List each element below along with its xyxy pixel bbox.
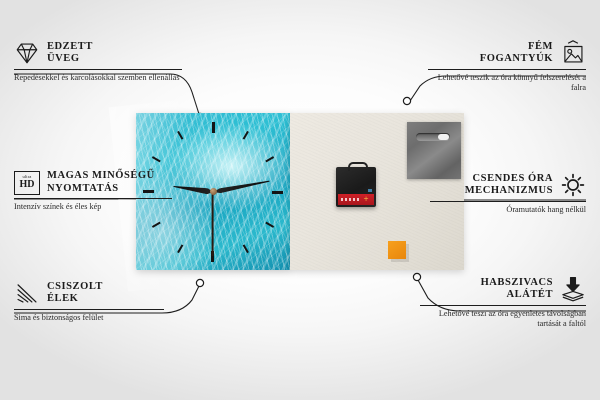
callout-description: Sima és biztonságos felület [14, 313, 164, 323]
callout-description: Repedésekkel és karcolásokkal szemben el… [14, 73, 182, 83]
clock-second-hand [212, 192, 214, 256]
clock-center-cap [210, 188, 217, 195]
callout-header: CSENDES ÓRA MECHANIZMUS [430, 172, 586, 198]
wire-node-metal-handles [403, 97, 410, 104]
metal-hanger [407, 122, 461, 179]
hd-label: HD [20, 180, 35, 190]
gear-icon [560, 172, 586, 198]
quartz-mechanism: + [336, 167, 376, 207]
callout-rule [14, 69, 182, 70]
callout-title: CSISZOLT ÉLEK [47, 281, 103, 306]
callout-header: FÉM FOGANTYÚK [428, 40, 586, 66]
callout-title: CSENDES ÓRA MECHANIZMUS [465, 173, 553, 198]
callout-rule [420, 305, 586, 306]
callout-rule [428, 69, 586, 70]
callout-foam-backing[interactable]: HABSZIVACS ALÁTÉT Lehetővé teszi az óra … [420, 276, 586, 329]
callout-description: Lehetővé teszik az óra könnyű felszerelé… [428, 73, 586, 93]
callout-description: Óramutatók hang nélkül [430, 205, 586, 215]
battery-label: + [338, 194, 374, 205]
callout-rule [430, 201, 586, 202]
callout-description: Intenzív színek és éles kép [14, 202, 172, 212]
polished-edges-icon [14, 280, 40, 306]
callout-description: Lehetővé teszi az óra egyenletes távolsá… [420, 309, 586, 329]
callout-high-quality-print[interactable]: ultra HD MAGAS MINŐSÉGŰ NYOMTATÁS Intenz… [14, 170, 172, 212]
hanger-slot [416, 133, 450, 141]
infographic-canvas: + EDZETT ÜVEG Repedésekkel és karcolások… [0, 0, 600, 400]
callout-tempered-glass[interactable]: EDZETT ÜVEG Repedésekkel és karcolásokka… [14, 40, 182, 83]
callout-title: MAGAS MINŐSÉGŰ NYOMTATÁS [47, 170, 155, 195]
diamond-icon [14, 40, 40, 66]
picture-hanger-icon [560, 40, 586, 66]
callout-title: EDZETT ÜVEG [47, 41, 93, 66]
battery-plus-icon: + [362, 195, 370, 203]
clock-tick [212, 122, 214, 192]
callout-header: EDZETT ÜVEG [14, 40, 182, 66]
callout-rule [14, 309, 164, 310]
callout-metal-handles[interactable]: FÉM FOGANTYÚK Lehetővé teszik az óra kön… [428, 40, 586, 93]
callout-header: ultra HD MAGAS MINŐSÉGŰ NYOMTATÁS [14, 170, 172, 195]
mechanism-indicator [368, 189, 372, 192]
callout-header: HABSZIVACS ALÁTÉT [420, 276, 586, 302]
callout-rule [14, 198, 172, 199]
callout-title: HABSZIVACS ALÁTÉT [481, 277, 553, 302]
callout-title: FÉM FOGANTYÚK [480, 41, 553, 66]
foam-pad-arrow-icon [560, 276, 586, 302]
callout-header: CSISZOLT ÉLEK [14, 280, 164, 306]
foam-pad [388, 241, 406, 259]
mechanism-hook [348, 162, 368, 171]
callout-polished-edges[interactable]: CSISZOLT ÉLEK Sima és biztonságos felüle… [14, 280, 164, 323]
ultra-hd-icon: ultra HD [14, 171, 40, 195]
callout-silent-mechanism[interactable]: CSENDES ÓRA MECHANIZMUS Óramutatók hang … [430, 172, 586, 215]
